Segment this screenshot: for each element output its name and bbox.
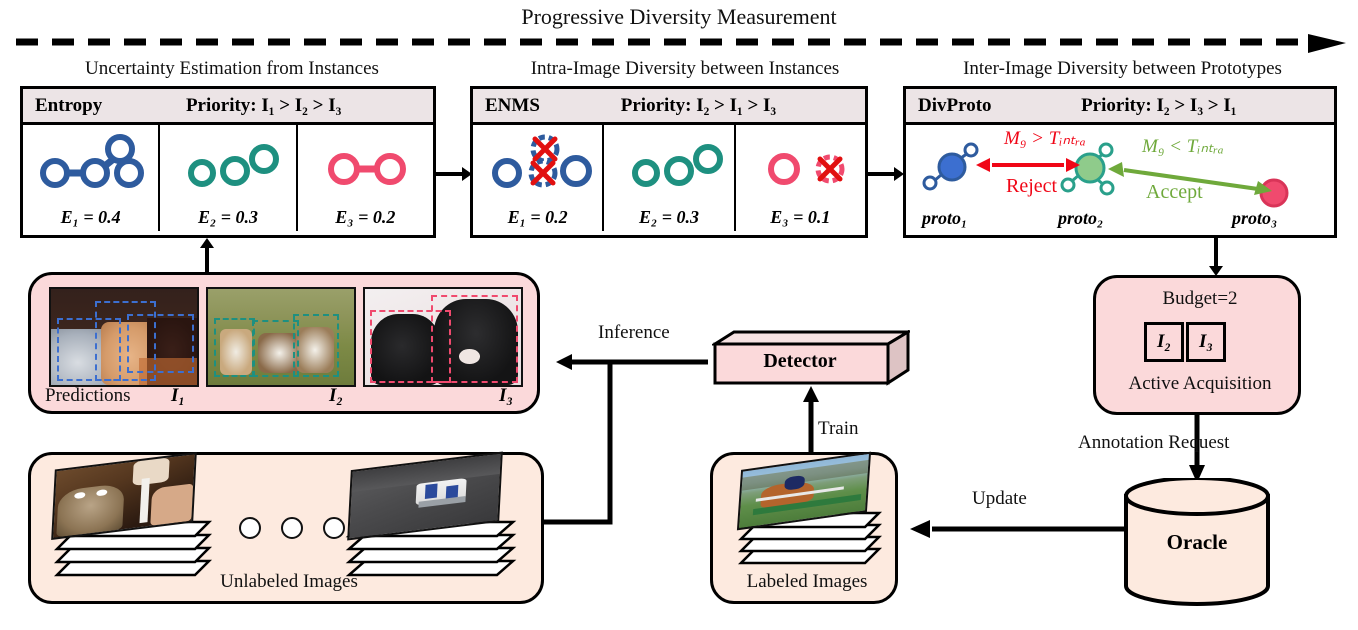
- panel-entropy-priority: Priority: I₁ > I₂ > I₃: [102, 95, 433, 117]
- panel-divproto-header: DivProto Priority: I₂ > I₃ > I₁: [906, 89, 1334, 125]
- unlabeled-caption: Unlabeled Images: [31, 571, 547, 593]
- graph-connected-blue-icon: [23, 129, 163, 191]
- panel-enms-cell-1: E₁ = 0.2: [473, 125, 604, 231]
- pink-circle-one-suppressed-icon: [736, 129, 876, 191]
- panel-enms-name: ENMS: [473, 95, 540, 117]
- three-circles-teal-icon: [160, 129, 300, 191]
- three-circles-teal-icon: [604, 129, 744, 191]
- proto-label-1: proto₁: [922, 208, 967, 229]
- update-edge: [908, 518, 1126, 540]
- acquisition-chip-2[interactable]: I₃: [1186, 322, 1226, 362]
- panel-enms-cell-3: E₃ = 0.1: [736, 125, 865, 231]
- panel-entropy-cell-3-value: E₃ = 0.2: [335, 207, 395, 231]
- unlabeled-pool-panel: Unlabeled Images: [28, 452, 544, 604]
- panel-entropy-body: E₁ = 0.4 E₂ = 0.3 E₃ = 0.2: [23, 125, 433, 231]
- train-label: Train: [818, 418, 858, 440]
- acquisition-panel: Budget=2 I₂ I₃ Active Acquisition: [1093, 275, 1301, 415]
- panel-entropy-cell-3: E₃ = 0.2: [298, 125, 433, 231]
- arrow-divproto-to-acquisition: [1205, 238, 1227, 276]
- update-label: Update: [972, 488, 1027, 510]
- oracle-label: Oracle: [1122, 530, 1272, 555]
- oracle-node: Oracle: [1122, 478, 1272, 608]
- panel-enms-priority: Priority: I₂ > I₁ > I₃: [540, 95, 865, 117]
- panel-divproto: DivProto Priority: I₂ > I₃ > I₁: [903, 86, 1337, 238]
- prediction-label-2: I₂: [329, 385, 343, 407]
- panel-divproto-body: M₉ > Tᵢₙₜᵣₐ Reject M₉ < Tᵢₙₜᵣₐ Accept pr…: [906, 125, 1334, 231]
- panel-enms-header: ENMS Priority: I₂ > I₁ > I₃: [473, 89, 865, 125]
- panel-entropy-cell-2: E₂ = 0.3: [160, 125, 297, 231]
- prediction-label-1: I₁: [171, 385, 185, 407]
- accept-condition-label: M₉ < Tᵢₙₜᵣₐ: [1142, 135, 1224, 158]
- prediction-thumbnail-1: [49, 287, 199, 387]
- reject-condition-label: M₉ > Tᵢₙₜᵣₐ: [1004, 127, 1086, 150]
- arrow-entropy-to-enms: [436, 164, 472, 184]
- unlabeled-ellipsis: [239, 517, 345, 539]
- bbox: [431, 295, 518, 383]
- inference-edge: [536, 338, 716, 538]
- panel-entropy: Entropy Priority: I₁ > I₂ > I₃ E₁ = 0.4 …: [20, 86, 436, 238]
- panel-enms: ENMS Priority: I₂ > I₁ > I₃ E₁ = 0.2: [470, 86, 868, 238]
- two-circles-linked-pink-icon: [298, 129, 438, 191]
- panel-enms-cell-3-value: E₃ = 0.1: [770, 207, 830, 231]
- proto-label-3: proto₃: [1232, 208, 1277, 229]
- page-title: Progressive Diversity Measurement: [0, 4, 1358, 30]
- panel-entropy-header: Entropy Priority: I₁ > I₂ > I₃: [23, 89, 433, 125]
- bbox: [127, 314, 194, 374]
- reject-label: Reject: [1006, 175, 1057, 198]
- bbox: [252, 320, 299, 378]
- labeled-pool-panel: Labeled Images: [710, 452, 898, 604]
- panel-divproto-name: DivProto: [906, 95, 992, 117]
- panel-entropy-cell-2-value: E₂ = 0.3: [198, 207, 258, 231]
- stage-caption-inter: Inter-Image Diversity between Prototypes: [895, 58, 1350, 80]
- stage-caption-intra: Intra-Image Diversity between Instances: [460, 58, 910, 80]
- proto-label-2: proto₂: [1058, 208, 1103, 229]
- arrow-predictions-to-entropy: [196, 238, 218, 274]
- panel-enms-body: E₁ = 0.2 E₂ = 0.3 E₃ = 0.1: [473, 125, 865, 231]
- bbox: [214, 318, 255, 378]
- panel-enms-cell-2: E₂ = 0.3: [604, 125, 735, 231]
- blue-circles-two-suppressed-icon: [473, 129, 613, 191]
- panel-enms-cell-2-value: E₂ = 0.3: [639, 207, 699, 231]
- detector-node: Detector: [712, 330, 910, 386]
- prediction-label-3: I₃: [499, 385, 513, 407]
- arrow-enms-to-divproto: [868, 164, 904, 184]
- accept-label: Accept: [1146, 181, 1203, 204]
- predictions-panel: Predictions I₁ I₂ I₃: [28, 272, 540, 414]
- panel-entropy-name: Entropy: [23, 95, 102, 117]
- labeled-caption: Labeled Images: [713, 571, 901, 593]
- acquisition-chip-group: I₂ I₃: [1144, 322, 1226, 362]
- budget-label: Budget=2: [1096, 288, 1304, 310]
- predictions-caption: Predictions: [45, 385, 131, 407]
- panel-enms-cell-1-value: E₁ = 0.2: [508, 207, 568, 231]
- panel-divproto-priority: Priority: I₂ > I₃ > I₁: [992, 95, 1334, 117]
- acquisition-caption: Active Acquisition: [1096, 373, 1304, 395]
- panel-entropy-cell-1-value: E₁ = 0.4: [61, 207, 121, 231]
- panel-entropy-cell-1: E₁ = 0.4: [23, 125, 160, 231]
- stage-caption-uncertainty: Uncertainty Estimation from Instances: [12, 58, 452, 80]
- detector-label: Detector: [712, 350, 888, 373]
- prediction-thumbnail-3: [363, 287, 523, 387]
- inference-label: Inference: [598, 322, 670, 344]
- ellipsis-dot: [281, 517, 303, 539]
- annotation-request-label: Annotation Request: [1078, 432, 1229, 454]
- acquisition-chip-1[interactable]: I₂: [1144, 322, 1184, 362]
- ellipsis-dot: [239, 517, 261, 539]
- bbox: [293, 314, 340, 377]
- progress-arrow: [16, 34, 1346, 56]
- prediction-thumbnail-2: [206, 287, 356, 387]
